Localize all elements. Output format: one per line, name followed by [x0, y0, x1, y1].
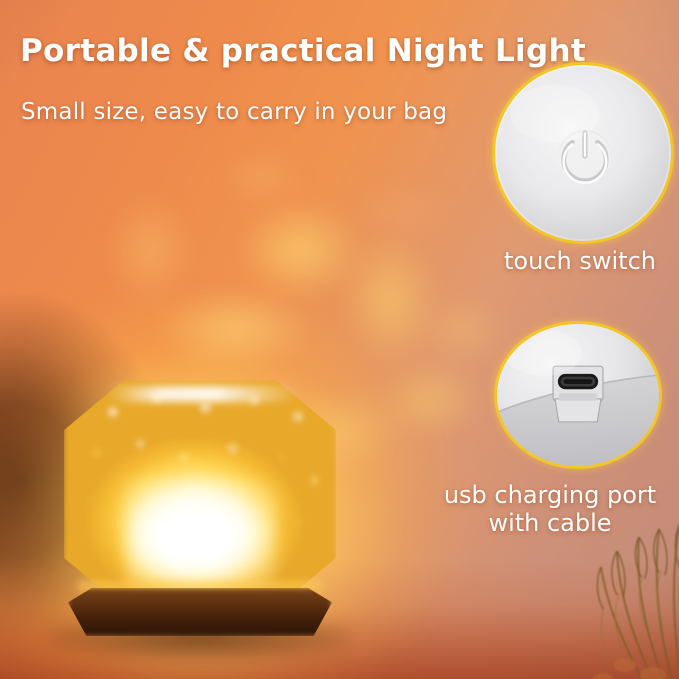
caption-usb-line1: usb charging port	[430, 482, 670, 510]
caption-usb-port: usb charging port with cable	[430, 482, 670, 538]
caption-touch-switch: touch switch	[495, 248, 665, 276]
night-light-lamp	[50, 372, 350, 652]
lamp-crystal-texture	[64, 380, 336, 608]
lamp-top-rim-highlight	[108, 386, 298, 402]
page-title: Portable & practical Night Light	[20, 33, 586, 69]
lamp-base-glow	[78, 582, 322, 596]
lamp-halo	[0, 302, 420, 679]
usb-c-port-icon	[497, 324, 659, 466]
product-marketing-image: Portable & practical Night Light Small s…	[0, 0, 679, 679]
lamp-cast-shadow	[50, 622, 350, 660]
table-surface	[0, 559, 679, 679]
callout-touch-switch	[492, 62, 674, 244]
lamp-light-core	[126, 480, 276, 592]
lamp-wooden-base	[68, 588, 332, 636]
lamp-crystal-body	[64, 380, 336, 608]
callout-usb-port	[494, 321, 662, 469]
power-button-icon	[495, 65, 671, 241]
page-subtitle: Small size, easy to carry in your bag	[21, 99, 447, 125]
caption-usb-line2: with cable	[430, 510, 670, 538]
